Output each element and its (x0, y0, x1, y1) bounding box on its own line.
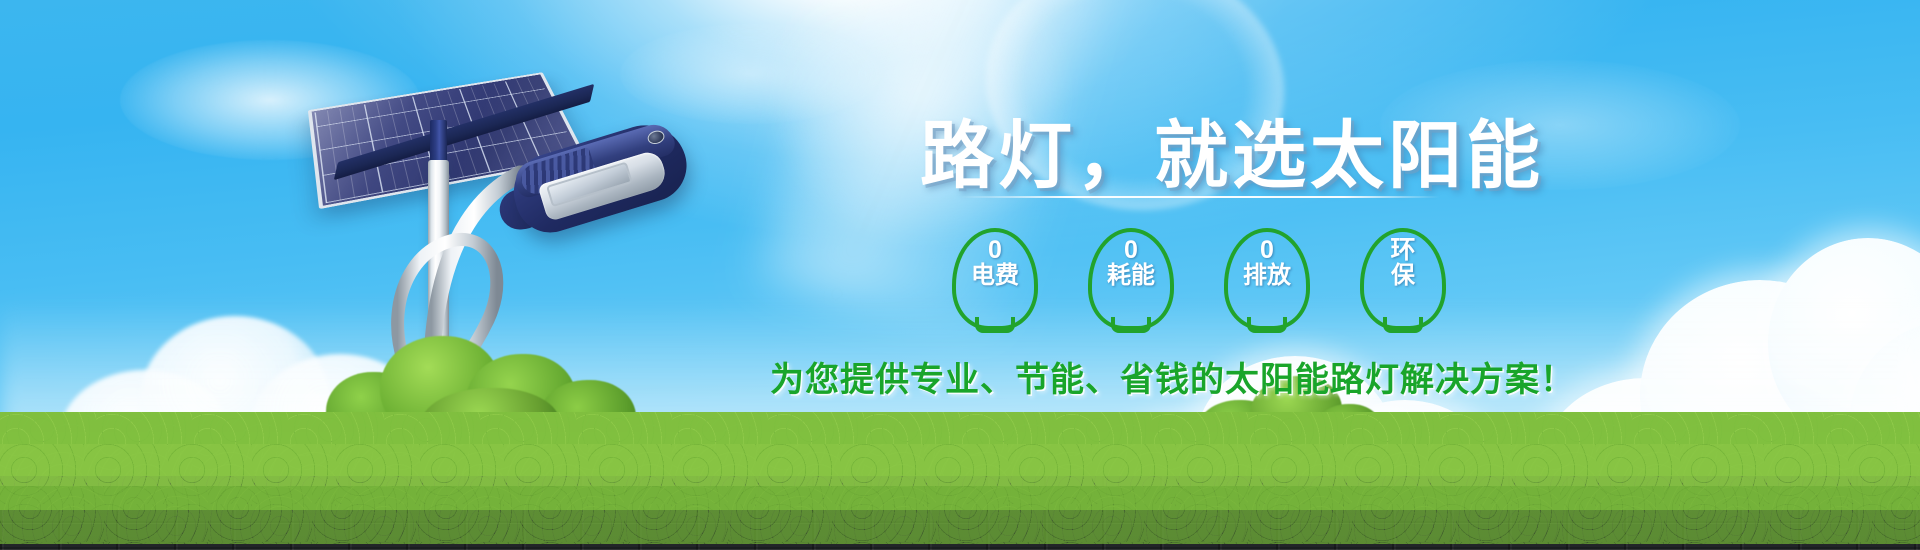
badge-label: 耗能 (1107, 264, 1155, 288)
badge-number: 0 (1260, 238, 1274, 264)
feature-badge[interactable]: 0 电费 (952, 228, 1038, 330)
badge-label: 保 (1391, 264, 1415, 288)
banner-copy: 路灯，就选太阳能 0 电费 0 耗能 (0, 0, 1920, 550)
badge-number: 0 (1124, 238, 1138, 264)
feature-badge[interactable]: 环 保 (1360, 228, 1446, 330)
subtitle-tagline: 为您提供专业、节能、省钱的太阳能路灯解决方案！ (770, 352, 1575, 401)
badge-number: 0 (988, 238, 1002, 264)
page-title: 路灯，就选太阳能 (920, 96, 1544, 203)
feature-badge-list: 0 电费 0 耗能 0 排放 (952, 228, 1446, 330)
hero-banner: 路灯，就选太阳能 0 电费 0 耗能 (0, 0, 1920, 550)
headline-underline (960, 196, 1440, 198)
badge-label: 电费 (971, 264, 1019, 288)
badge-label: 排放 (1243, 264, 1291, 288)
badge-number: 环 (1390, 238, 1415, 264)
feature-badge[interactable]: 0 耗能 (1088, 228, 1174, 330)
feature-badge[interactable]: 0 排放 (1224, 228, 1310, 330)
